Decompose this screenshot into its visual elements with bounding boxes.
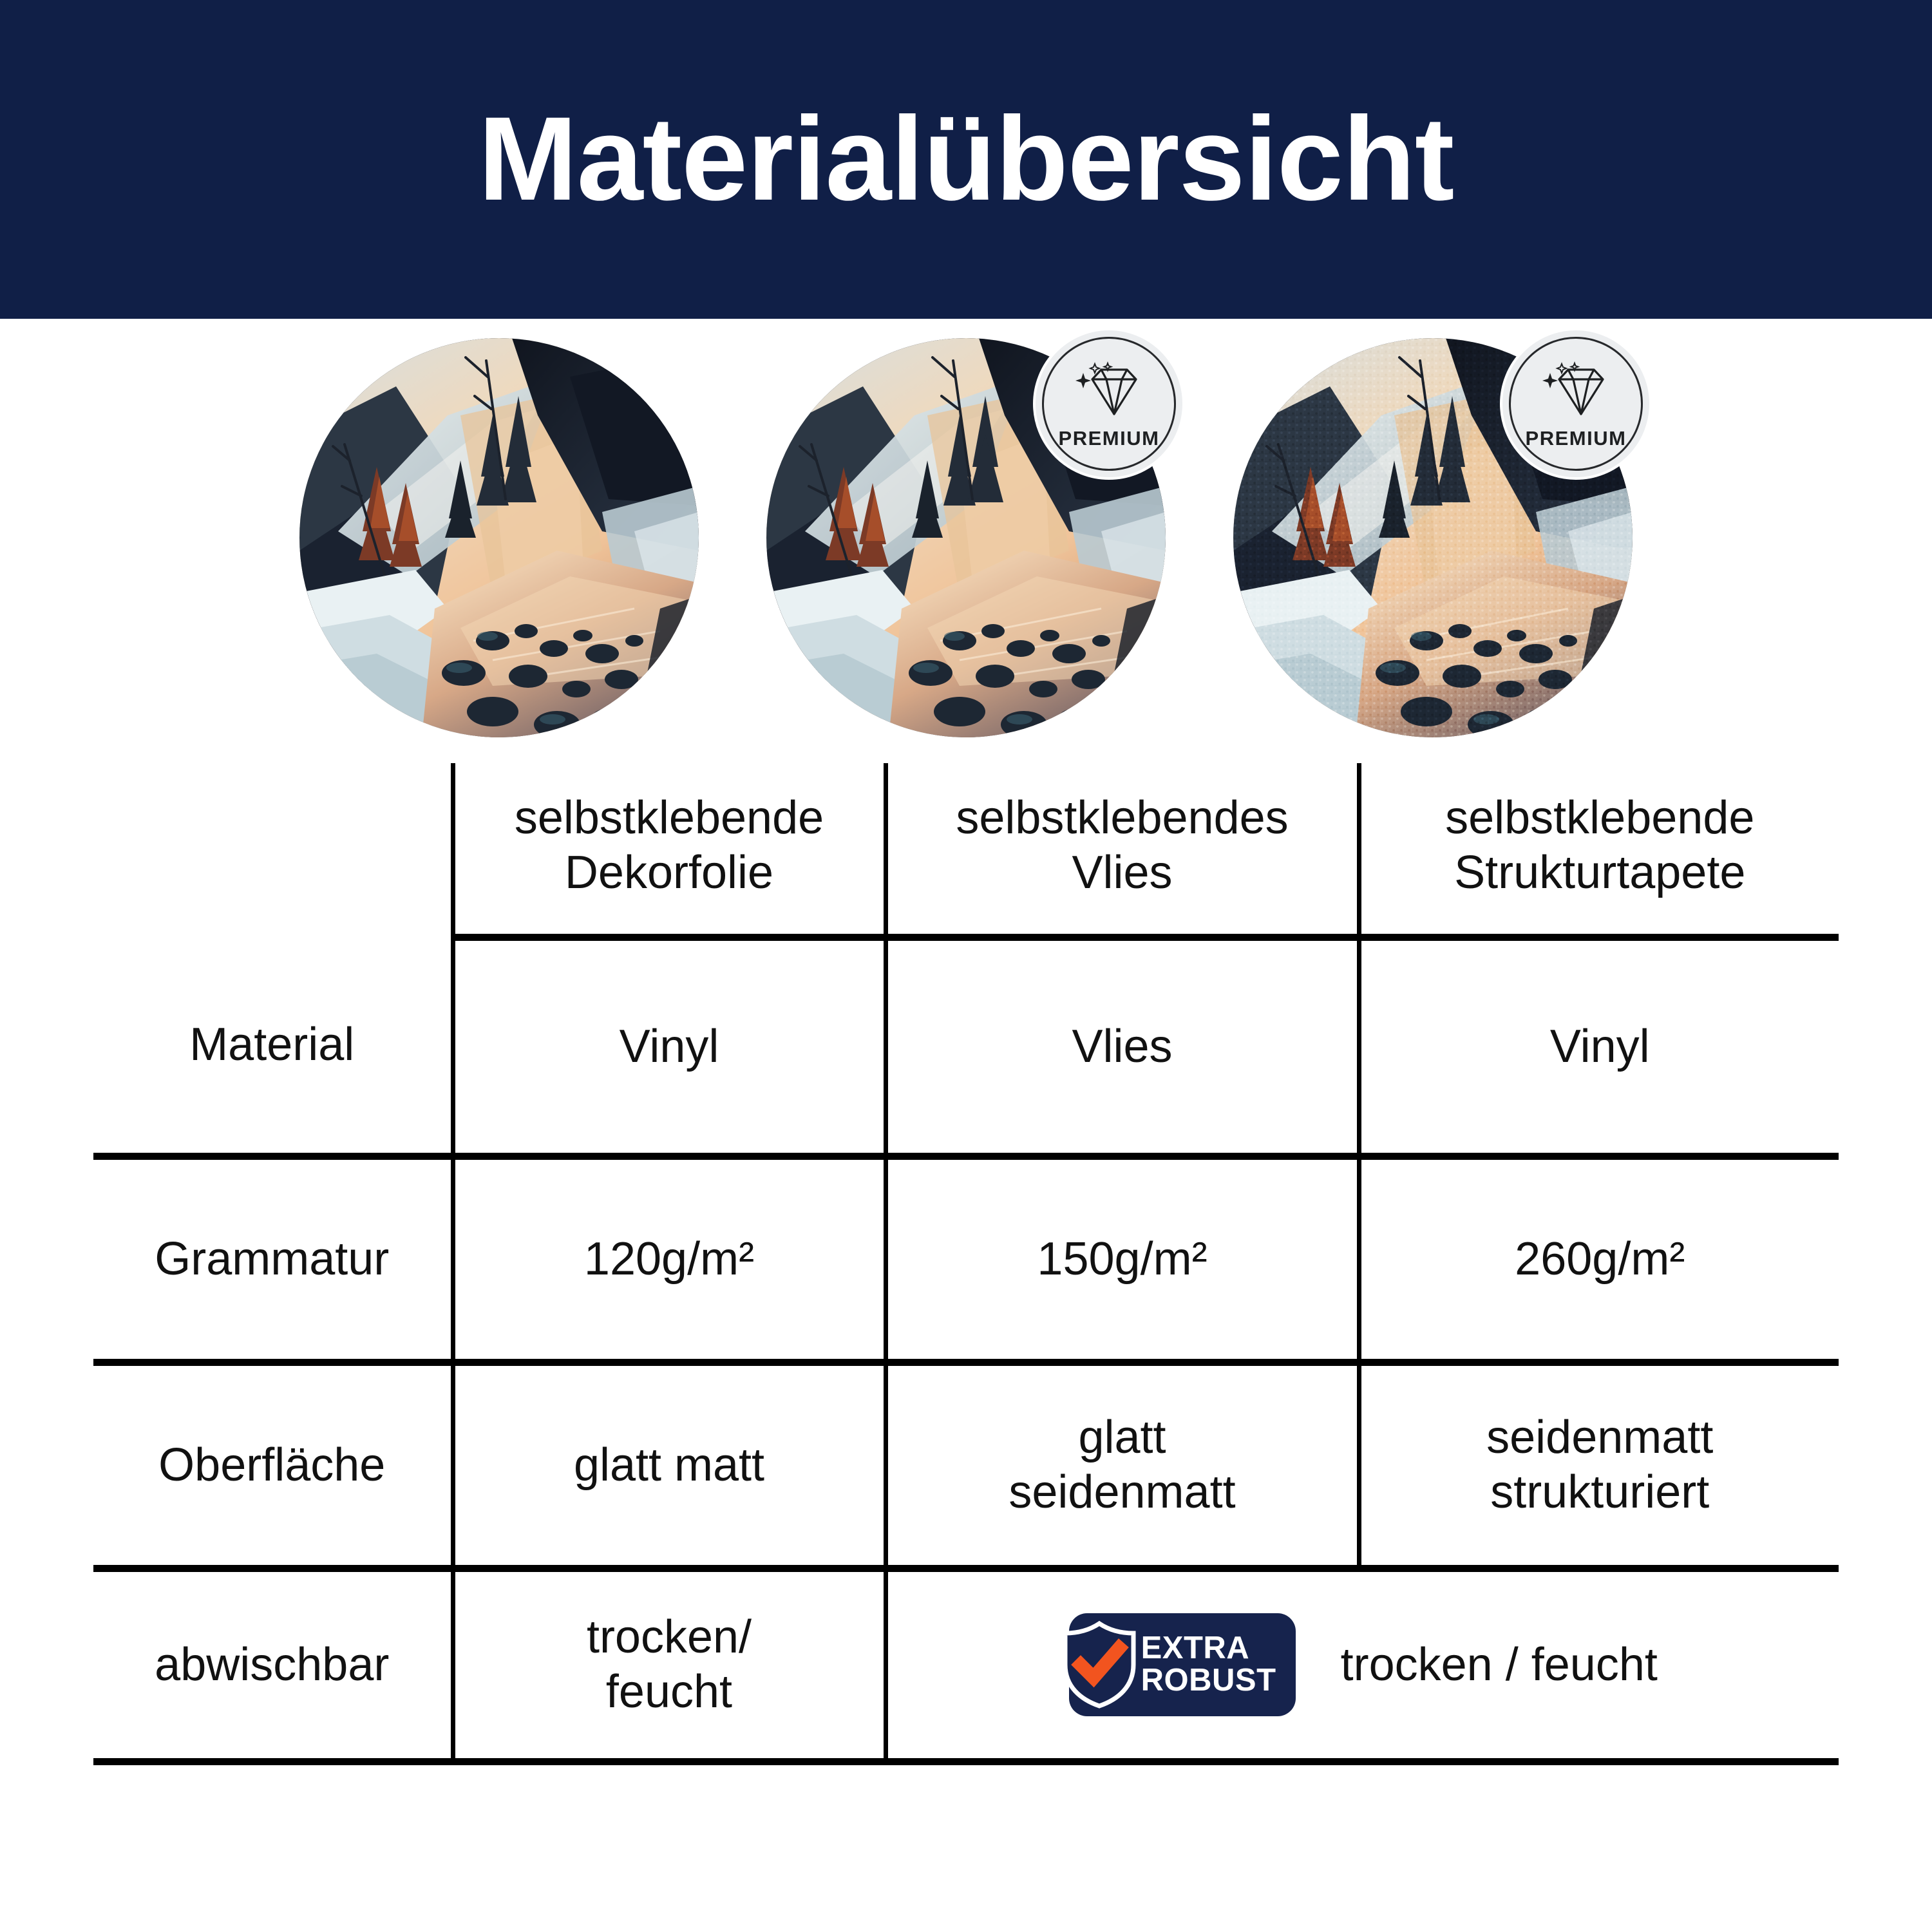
premium-label: PREMIUM — [1059, 427, 1160, 450]
robust-line-1: EXTRA — [1141, 1633, 1276, 1665]
diamond-icon — [1540, 361, 1612, 423]
row-label-oberflaeche: Oberfläche — [93, 1362, 453, 1568]
product-image-strukturtapete: PREMIUM — [1233, 338, 1633, 737]
row-label-abwischbar: abwischbar — [93, 1568, 453, 1761]
cell-oberflaeche-vlies: glatt seidenmatt — [885, 1362, 1359, 1568]
diamond-icon — [1073, 361, 1145, 423]
column-header-line1: selbstklebende — [464, 791, 875, 846]
cell-material-strukturtapete: Vinyl — [1359, 937, 1839, 1156]
cell-line2: seidenmatt — [897, 1465, 1348, 1520]
product-image-strip: PREMIUM — [0, 319, 1932, 763]
cell-line1: trocken/ — [464, 1610, 875, 1665]
cell-oberflaeche-dekorfolie: glatt matt — [453, 1362, 885, 1568]
table-header-row: selbstklebende Dekorfolie selbstklebende… — [93, 763, 1839, 937]
shield-check-icon — [1059, 1620, 1140, 1710]
circular-artwork — [299, 338, 699, 737]
robust-line-2: ROBUST — [1141, 1665, 1276, 1697]
extra-robust-badge: EXTRA ROBUST — [1069, 1613, 1296, 1716]
column-header-line1: selbstklebendes — [897, 791, 1348, 846]
column-header-line1: selbstklebende — [1370, 791, 1830, 846]
page-header: Materialübersicht — [0, 0, 1932, 319]
premium-badge: PREMIUM — [1500, 328, 1652, 480]
extra-robust-text: EXTRA ROBUST — [1141, 1633, 1276, 1697]
cell-material-vlies: Vlies — [885, 937, 1359, 1156]
cell-line2: strukturiert — [1370, 1465, 1830, 1520]
cell-grammatur-strukturtapete: 260g/m² — [1359, 1156, 1839, 1362]
row-label-grammatur: Grammatur — [93, 1156, 453, 1362]
table-row-material: Material Vinyl Vlies Vinyl — [93, 937, 1839, 1156]
premium-label: PREMIUM — [1526, 427, 1627, 450]
material-comparison-table: selbstklebende Dekorfolie selbstklebende… — [93, 763, 1839, 1765]
row-label-material: Material — [93, 937, 453, 1156]
table-row-abwischbar: abwischbar trocken/ feucht — [93, 1568, 1839, 1761]
table-row-grammatur: Grammatur 120g/m² 150g/m² 260g/m² — [93, 1156, 1839, 1362]
premium-badge: PREMIUM — [1033, 328, 1185, 480]
cell-oberflaeche-strukturtapete: seidenmatt strukturiert — [1359, 1362, 1839, 1568]
table-row-oberflaeche: Oberfläche glatt matt glatt seidenmatt s… — [93, 1362, 1839, 1568]
column-header-strukturtapete: selbstklebende Strukturtapete — [1359, 763, 1839, 937]
cell-line1: glatt — [897, 1410, 1348, 1465]
product-image-vlies: PREMIUM — [766, 338, 1166, 737]
column-header-line2: Strukturtapete — [1370, 846, 1830, 900]
column-header-dekorfolie: selbstklebende Dekorfolie — [453, 763, 885, 937]
page-title: Materialübersicht — [478, 100, 1454, 219]
cell-material-dekorfolie: Vinyl — [453, 937, 885, 1156]
cell-abwischbar-dekorfolie: trocken/ feucht — [453, 1568, 885, 1761]
column-header-line2: Vlies — [897, 846, 1348, 900]
cell-grammatur-vlies: 150g/m² — [885, 1156, 1359, 1362]
cell-abwischbar-merged-text: trocken / feucht — [1341, 1638, 1658, 1692]
material-comparison-table-area: selbstklebende Dekorfolie selbstklebende… — [0, 763, 1932, 1858]
cell-abwischbar-merged: EXTRA ROBUST trocken / feucht — [885, 1568, 1839, 1761]
product-image-dekorfolie — [299, 338, 699, 737]
header-corner-cell — [93, 763, 453, 937]
column-header-line2: Dekorfolie — [464, 846, 875, 900]
cell-grammatur-dekorfolie: 120g/m² — [453, 1156, 885, 1362]
cell-line2: feucht — [464, 1665, 875, 1719]
column-header-vlies: selbstklebendes Vlies — [885, 763, 1359, 937]
cell-line1: seidenmatt — [1370, 1410, 1830, 1465]
